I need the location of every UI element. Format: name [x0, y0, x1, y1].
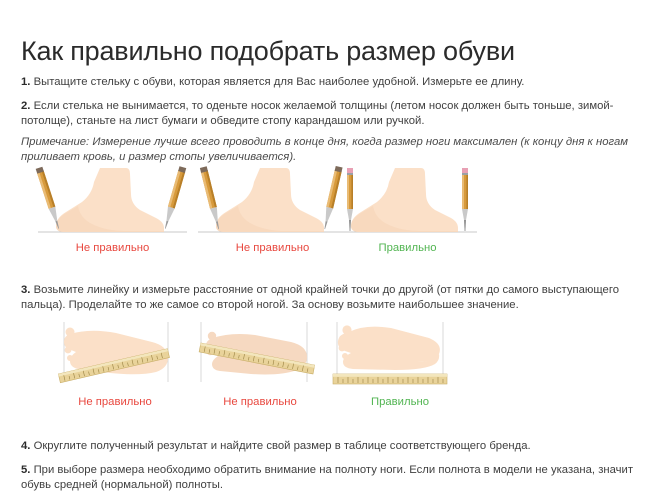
pencil-right-tilted [162, 166, 186, 229]
pencil-right-vertical [462, 168, 468, 231]
illustration-footprint-ruler-tilted-up [40, 316, 190, 396]
step-2-text: Если стелька не вынимается, то оденьте н… [21, 100, 613, 127]
figure-panel-pencil-bad-1: Не правильно [30, 160, 195, 242]
illustration-foot-pencils-tilted-outward [30, 160, 195, 242]
illustration-footprint-ruler-tilted-down [185, 316, 335, 396]
figure-panel-ruler-good: Правильно [325, 316, 475, 396]
step-3-number: 3. [21, 284, 30, 296]
figure-panel-ruler-bad-1: Не правильно [40, 316, 190, 396]
step-5: 5. При выборе размера необходимо обратит… [21, 463, 653, 492]
step-3: 3. Возьмите линейку и измерьте расстояни… [21, 283, 653, 312]
caption-ruler-good: Правильно [325, 396, 475, 409]
step-1-number: 1. [21, 76, 30, 88]
step-2: 2. Если стелька не вынимается, то оденьт… [21, 99, 653, 128]
step-4: 4. Округлите полученный результат и найд… [21, 439, 653, 454]
figure-panel-pencil-good: Правильно [325, 160, 490, 242]
step-4-number: 4. [21, 440, 30, 452]
illustration-footprint-ruler-horizontal [325, 316, 475, 396]
figure-panel-ruler-bad-2: Не правильно [185, 316, 335, 396]
step-1: 1. Вытащите стельку с обуви, которая явл… [21, 75, 653, 90]
step-3-text: Возьмите линейку и измерьте расстояние о… [21, 284, 619, 311]
caption-ruler-bad-2: Не правильно [185, 396, 335, 409]
step-1-text: Вытащите стельку с обуви, которая являет… [34, 76, 525, 88]
page-title: Как правильно подобрать размер обуви [21, 34, 515, 68]
step-5-text: При выборе размера необходимо обратить в… [21, 464, 633, 491]
caption-pencil-good: Правильно [325, 242, 490, 255]
figure-pencil-row: Не правильно [0, 160, 670, 262]
illustration-foot-pencils-vertical [325, 160, 490, 242]
step-4-text: Округлите полученный результат и найдите… [34, 440, 531, 452]
ruler-horizontal [333, 374, 447, 384]
figure-ruler-row: Не правильно [0, 316, 670, 416]
caption-pencil-bad-1: Не правильно [30, 242, 195, 255]
article-page: Как правильно подобрать размер обуви 1. … [0, 0, 670, 503]
step-5-number: 5. [21, 464, 30, 476]
caption-ruler-bad-1: Не правильно [40, 396, 190, 409]
step-2-number: 2. [21, 100, 30, 112]
